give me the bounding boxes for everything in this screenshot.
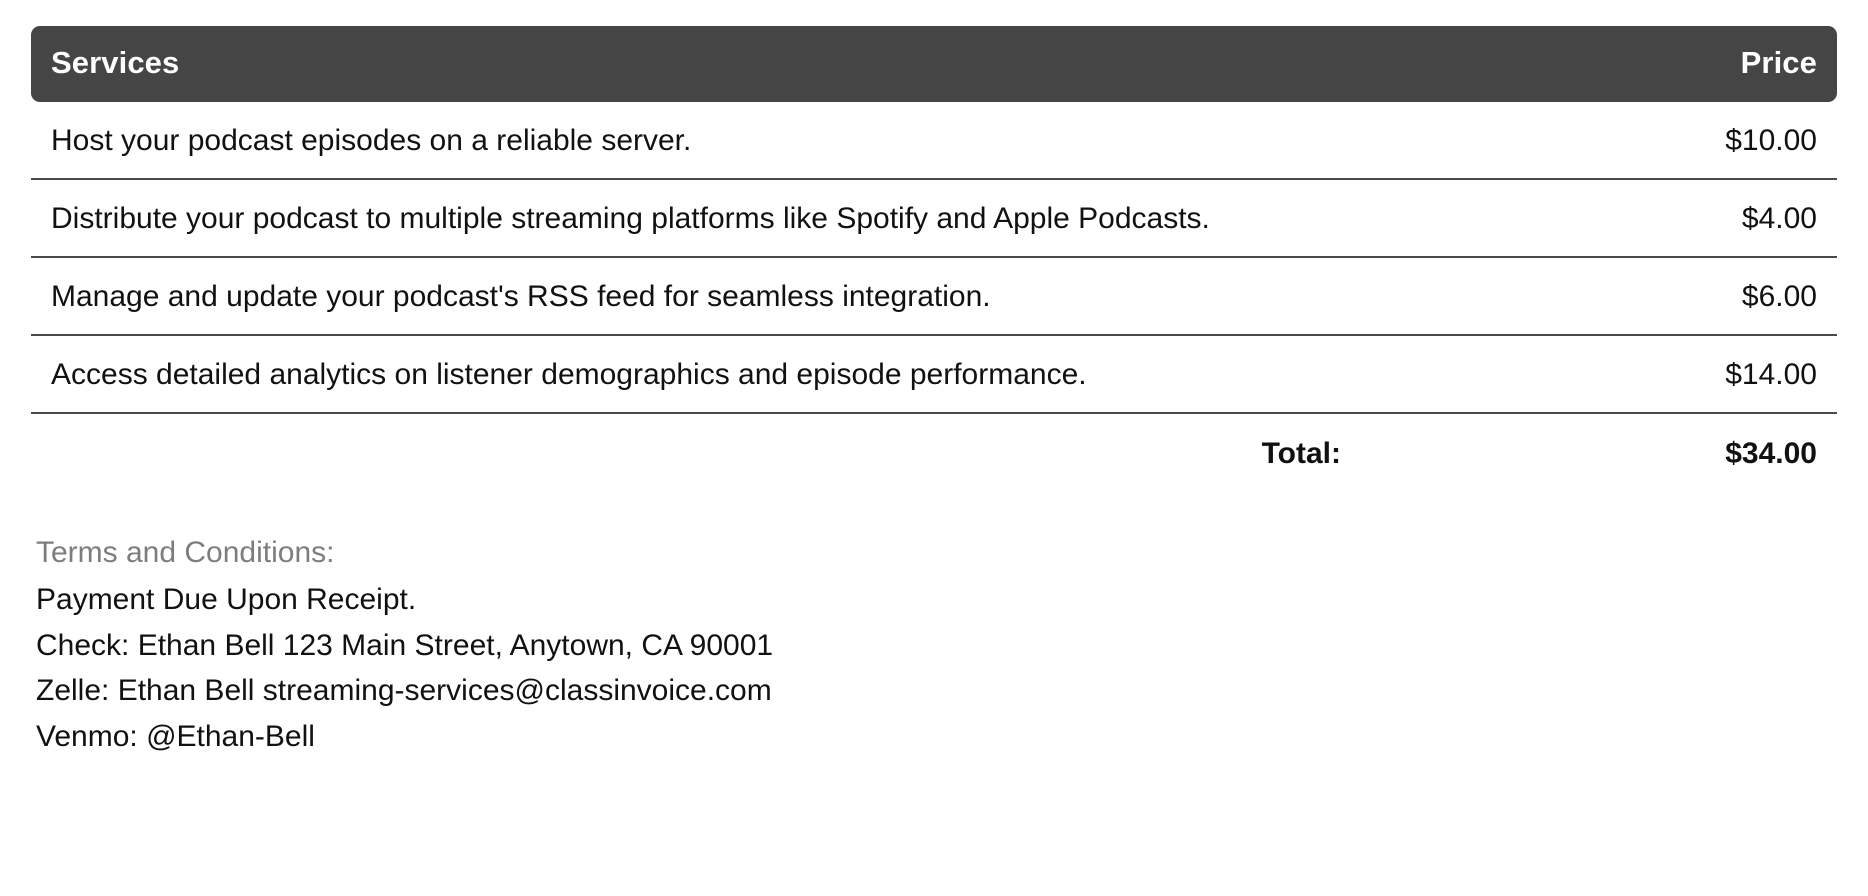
column-header-price: Price: [1411, 26, 1837, 102]
total-amount: $34.00: [1411, 414, 1837, 482]
column-header-services: Services: [31, 26, 1411, 102]
terms-line-payment-due: Payment Due Upon Receipt.: [36, 577, 1868, 623]
terms-line-zelle: Zelle: Ethan Bell streaming-services@cla…: [36, 668, 1868, 714]
service-description: Access detailed analytics on listener de…: [31, 336, 1411, 414]
service-description: Host your podcast episodes on a reliable…: [31, 102, 1411, 180]
terms-line-check: Check: Ethan Bell 123 Main Street, Anyto…: [36, 623, 1868, 669]
total-label: Total:: [31, 414, 1411, 482]
invoice-document: Services Price Host your podcast episode…: [0, 26, 1868, 896]
terms-heading: Terms and Conditions:: [36, 530, 1868, 576]
terms-and-conditions-section: Terms and Conditions: Payment Due Upon R…: [36, 530, 1868, 760]
table-total-row: Total: $34.00: [31, 414, 1837, 482]
table-row: Host your podcast episodes on a reliable…: [31, 102, 1837, 180]
services-price-table: Services Price Host your podcast episode…: [31, 26, 1837, 482]
table-body: Host your podcast episodes on a reliable…: [31, 102, 1837, 482]
terms-line-venmo: Venmo: @Ethan-Bell: [36, 714, 1868, 760]
service-description: Distribute your podcast to multiple stre…: [31, 180, 1411, 258]
table-row: Distribute your podcast to multiple stre…: [31, 180, 1837, 258]
service-price: $6.00: [1411, 258, 1837, 336]
table-row: Access detailed analytics on listener de…: [31, 336, 1837, 414]
table-header: Services Price: [31, 26, 1837, 102]
service-price: $4.00: [1411, 180, 1837, 258]
service-price: $14.00: [1411, 336, 1837, 414]
table-row: Manage and update your podcast's RSS fee…: [31, 258, 1837, 336]
service-description: Manage and update your podcast's RSS fee…: [31, 258, 1411, 336]
table-header-row: Services Price: [31, 26, 1837, 102]
service-price: $10.00: [1411, 102, 1837, 180]
